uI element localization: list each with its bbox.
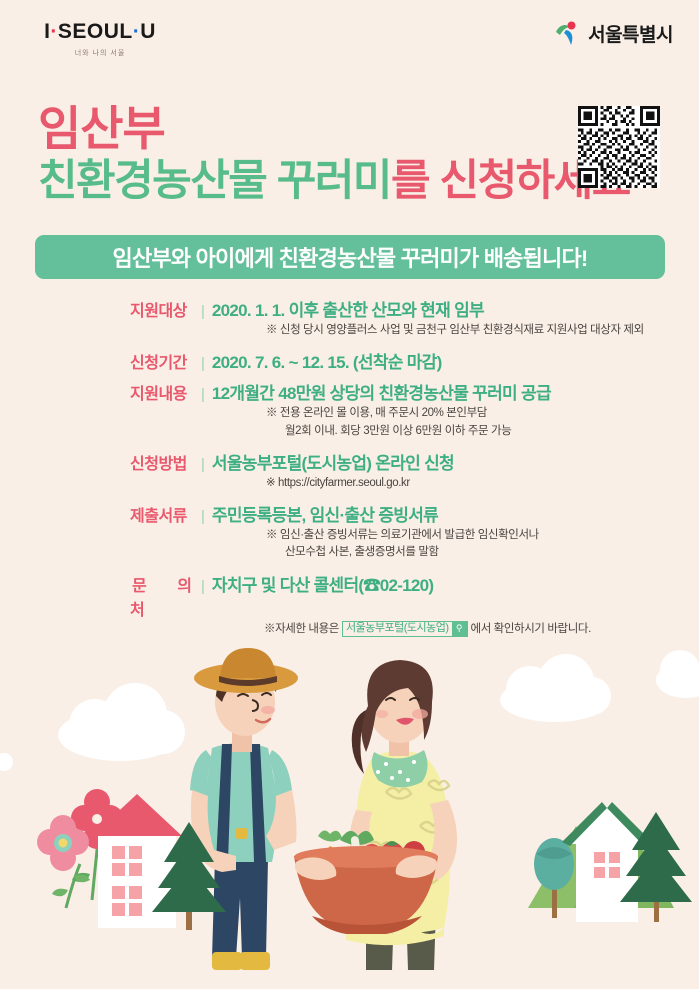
detail-label: 신청방법 xyxy=(130,450,196,474)
footer-note-suffix: 에서 확인하시기 바랍니다. xyxy=(471,623,591,635)
farmer-hat-crown xyxy=(220,648,276,678)
detail-label: 지원내용 xyxy=(130,380,196,404)
i-seoul-u-logo: I·SEOUL·U 너와 나의 서울 xyxy=(30,20,170,58)
seoul-city-name: 서울특별시 xyxy=(588,20,673,47)
title-line-1: 임산부 xyxy=(38,104,630,155)
seoul-emblem-icon xyxy=(553,18,583,48)
detail-note: ※ 신청 당시 영양플러스 사업 및 금천구 임산부 친환경식재료 지원사업 대… xyxy=(266,322,699,339)
cloud-icon xyxy=(58,683,185,761)
farmer-boot-left xyxy=(212,952,242,970)
title-line-2-green: 친환경농산물 꾸러미 xyxy=(38,157,391,205)
farmer-shirt xyxy=(206,743,277,862)
detail-value: 2020. 1. 1. 이후 출산한 산모와 현재 임부 xyxy=(212,296,484,321)
detail-label: 문 의 처 xyxy=(130,572,196,620)
poster-title: 임산부 친환경농산물 꾸러미를 신청하세요 xyxy=(38,104,630,205)
detail-label: 지원대상 xyxy=(130,297,196,321)
detail-note: ※ 전용 온라인 몰 이용, 매 주문시 20% 본인부담 xyxy=(266,405,699,422)
farmer-boot-right xyxy=(240,952,270,970)
detail-note-url[interactable]: ※ https://cityfarmer.seoul.go.kr xyxy=(266,475,699,492)
detail-divider: | xyxy=(201,355,205,372)
detail-divider: | xyxy=(201,303,205,320)
cloud-icon xyxy=(656,650,699,698)
farmer-figure xyxy=(190,648,298,970)
right-decor-group xyxy=(528,802,692,922)
detail-note: ※ 임신·출산 증빙서류는 의료기관에서 발급한 임신확인서나 xyxy=(266,527,699,544)
detail-value: 주민등록등본, 임신·출산 증빙서류 xyxy=(212,501,438,526)
detail-row-application-period: 신청기간 | 2020. 7. 6. ~ 12. 15. (선착순 마감) xyxy=(0,348,699,373)
qr-code[interactable] xyxy=(578,106,660,188)
i-seoul-u-wordmark: I·SEOUL·U xyxy=(30,20,170,44)
detail-divider: | xyxy=(201,578,205,595)
iseoulu-tagline: 너와 나의 서울 xyxy=(30,48,170,58)
detail-divider: | xyxy=(201,386,205,403)
detail-row-required-documents: 제출서류 | 주민등록등본, 임신·출산 증빙서류 xyxy=(0,501,699,526)
detail-row-application-method: 신청방법 | 서울농부포털(도시농업) 온라인 신청 xyxy=(0,449,699,474)
detail-label: 제출서류 xyxy=(130,502,196,526)
portal-search-box[interactable]: 서울농부포털(도시농업)⚲ xyxy=(342,621,468,637)
details-list: 지원대상 | 2020. 1. 1. 이후 출산한 산모와 현재 임부 ※ 신청… xyxy=(0,296,699,638)
portal-search-value: 서울농부포털(도시농업) xyxy=(343,620,452,637)
title-line-2: 친환경농산물 꾸러미를 신청하세요 xyxy=(38,157,630,205)
overall-button xyxy=(236,828,247,839)
detail-row-contact: 문 의 처 | 자치구 및 다산 콜센터(☎02-120) xyxy=(0,571,699,620)
illustration-scene xyxy=(0,640,699,989)
poster-header: I·SEOUL·U 너와 나의 서울 서울특별시 xyxy=(0,0,699,78)
detail-value: 자치구 및 다산 콜센터(☎02-120) xyxy=(212,571,434,596)
detail-value: 2020. 7. 6. ~ 12. 15. (선착순 마감) xyxy=(212,348,442,373)
detail-note: 산모수첩 사본, 출생증명서를 말함 xyxy=(285,544,699,561)
seoul-city-logo: 서울특별시 xyxy=(553,18,673,48)
cloud-icon xyxy=(500,654,611,722)
detail-label: 신청기간 xyxy=(130,349,196,373)
detail-divider: | xyxy=(201,508,205,525)
search-icon[interactable]: ⚲ xyxy=(452,622,467,636)
detail-note: 월2회 이내. 회당 3만원 이상 6만원 이하 주문 가능 xyxy=(285,423,699,440)
highlight-banner: 임산부와 아이에게 친환경농산물 꾸러미가 배송됩니다! xyxy=(35,235,665,279)
cloud-icon xyxy=(0,753,13,771)
detail-row-support-target: 지원대상 | 2020. 1. 1. 이후 출산한 산모와 현재 임부 xyxy=(0,296,699,321)
banner-text: 임산부와 아이에게 친환경농산물 꾸러미가 배송됩니다! xyxy=(113,241,588,273)
iseoulu-part3: U xyxy=(140,20,156,43)
detail-value: 서울농부포털(도시농업) 온라인 신청 xyxy=(212,449,454,474)
detail-divider: | xyxy=(201,456,205,473)
detail-row-support-content: 지원내용 | 12개월간 48만원 상당의 친환경농산물 꾸러미 공급 xyxy=(0,379,699,404)
footer-note: ※자세한 내용은서울농부포털(도시농업)⚲에서 확인하시기 바랍니다. xyxy=(264,621,699,638)
footer-note-prefix: ※자세한 내용은 xyxy=(264,623,339,635)
iseoulu-red-dot: · xyxy=(50,20,58,43)
detail-value: 12개월간 48만원 상당의 친환경농산물 꾸러미 공급 xyxy=(212,379,551,404)
iseoulu-part2: SEOUL xyxy=(58,20,133,43)
